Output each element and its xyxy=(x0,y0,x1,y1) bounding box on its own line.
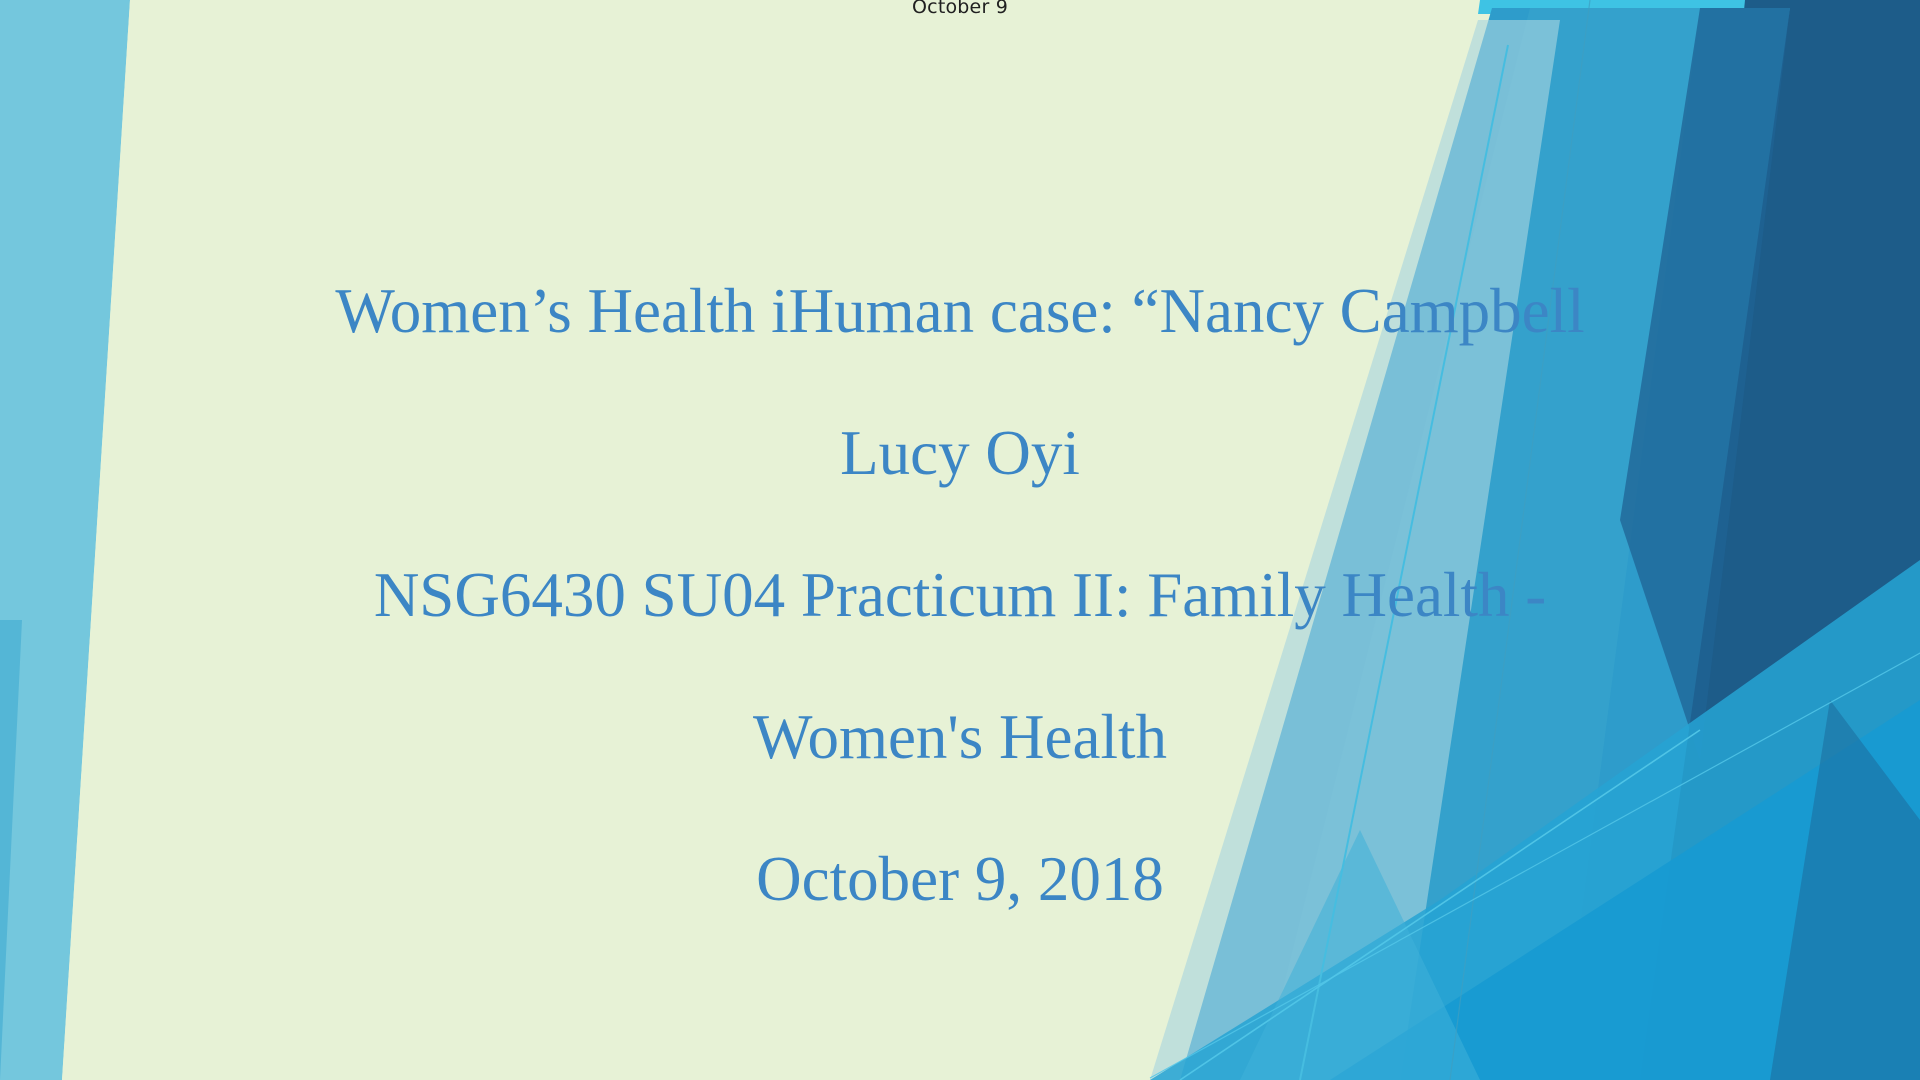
title-line-3-course: NSG6430 SU04 Practicum II: Family Health… xyxy=(50,524,1870,666)
slide-header-date: October 9 xyxy=(0,0,1920,18)
presentation-slide: October 9 Women’s Health iHuman case: “N… xyxy=(0,0,1920,1080)
title-line-1: Women’s Health iHuman case: “Nancy Campb… xyxy=(50,240,1870,382)
slide-title-block: Women’s Health iHuman case: “Nancy Campb… xyxy=(50,240,1870,950)
slide-content-layer: October 9 Women’s Health iHuman case: “N… xyxy=(0,0,1920,1080)
title-line-5-date: October 9, 2018 xyxy=(50,808,1870,950)
title-line-2-author: Lucy Oyi xyxy=(50,382,1870,524)
title-line-4-course-cont: Women's Health xyxy=(50,666,1870,808)
